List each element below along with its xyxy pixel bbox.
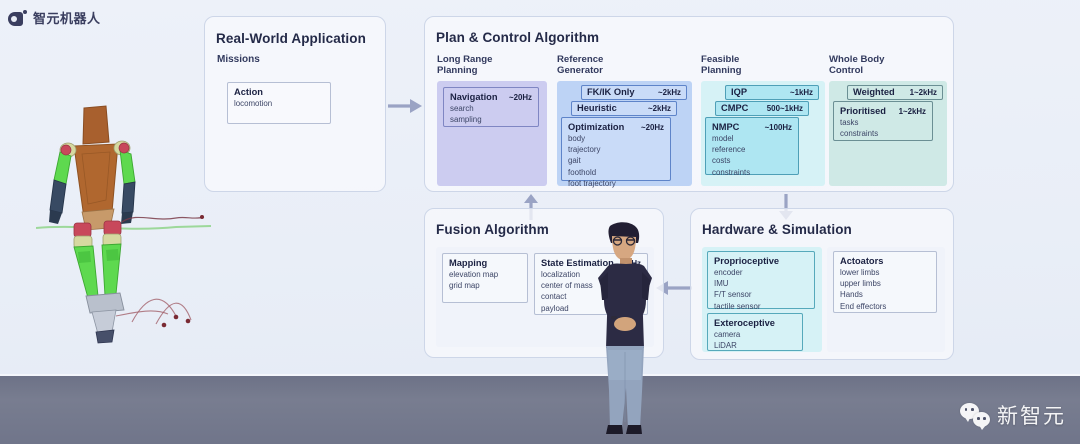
box-heuristic-title: Heuristic	[577, 103, 617, 113]
box-proprioceptive[interactable]: Proprioceptive encoder IMU F/T sensor ta…	[707, 251, 815, 309]
box-mapping-items: elevation map grid map	[449, 269, 521, 291]
box-prioritised-freq: 1~2kHz	[890, 107, 926, 116]
robot-svg	[36, 100, 211, 345]
box-actoators-head: Actoators	[840, 256, 930, 266]
list-item: LiDAR	[714, 340, 796, 351]
panel-title-hardware: Hardware & Simulation	[702, 222, 852, 237]
box-prioritised[interactable]: Prioritised 1~2kHz tasks constraints	[833, 101, 933, 141]
box-actoators-items: lower limbs upper limbs Hands End effect…	[840, 267, 930, 312]
box-mapping-head: Mapping	[449, 258, 521, 268]
box-exteroceptive[interactable]: Exteroceptive camera LiDAR	[707, 313, 803, 351]
list-item: tactile sensor	[714, 301, 808, 312]
box-action-title: Action	[234, 87, 263, 97]
group-whole-body-control: Weighted 1~2kHz Prioritised 1~2kHz tasks…	[829, 81, 947, 186]
list-item: End effectors	[840, 301, 930, 312]
box-optimization[interactable]: Optimization ~20Hz body trajectory gait …	[561, 117, 671, 181]
list-item: reference	[712, 144, 792, 155]
panel-title-plan-control: Plan & Control Algorithm	[436, 30, 599, 45]
list-item: model	[712, 133, 792, 144]
list-item: constraints	[712, 167, 792, 178]
box-exteroceptive-title: Exteroceptive	[714, 318, 775, 328]
column-reference-generator: Reference Generator	[557, 54, 677, 76]
box-proprioceptive-title: Proprioceptive	[714, 256, 779, 266]
brand-logo: 智元机器人	[8, 8, 101, 27]
box-cmpc-freq: 500~1kHz	[758, 104, 803, 113]
list-item: Hands	[840, 289, 930, 300]
list-item: constraints	[840, 128, 926, 139]
box-iqp-title: IQP	[731, 87, 747, 97]
list-item: costs	[712, 155, 792, 166]
stage-wall-floor-edge	[0, 374, 1080, 376]
box-navigation[interactable]: Navigation ~20Hz search sampling	[443, 87, 539, 127]
box-iqp-head: IQP ~1kHz	[731, 87, 813, 97]
col-head-line2: Generator	[557, 65, 677, 76]
box-nmpc-items: model reference costs constraints	[712, 133, 792, 178]
panel-title-fusion: Fusion Algorithm	[436, 222, 549, 237]
list-item: F/T sensor	[714, 289, 808, 300]
box-fk-ik-only-head: FK/IK Only ~2kHz	[587, 87, 681, 97]
col-head-line1: Long Range	[437, 54, 549, 65]
list-item: lower limbs	[840, 267, 930, 278]
wechat-watermark: 新智元	[960, 400, 1066, 430]
column-head-feasible-planning: Feasible Planning	[701, 54, 821, 76]
list-item: camera	[714, 329, 796, 340]
box-navigation-head: Navigation ~20Hz	[450, 92, 532, 102]
col-head-line1: Whole Body	[829, 54, 949, 65]
list-item: gait	[568, 155, 664, 166]
col-head-line2: Control	[829, 65, 949, 76]
box-navigation-items: search sampling	[450, 103, 532, 125]
column-head-reference-generator: Reference Generator	[557, 54, 677, 76]
box-optimization-title: Optimization	[568, 122, 624, 132]
presenter-on-stage	[578, 222, 674, 437]
column-feasible-planning: Feasible Planning	[701, 54, 821, 76]
box-navigation-freq: ~20Hz	[500, 93, 532, 102]
list-item: IMU	[714, 278, 808, 289]
column-head-whole-body-control: Whole Body Control	[829, 54, 949, 76]
real-world-subtitle: Missions	[217, 54, 260, 66]
box-mapping[interactable]: Mapping elevation map grid map	[442, 253, 528, 303]
box-nmpc-head: NMPC ~100Hz	[712, 122, 792, 132]
box-weighted-title: Weighted	[853, 87, 895, 97]
box-heuristic-head: Heuristic ~2kHz	[577, 103, 671, 113]
box-actoators[interactable]: Actoators lower limbs upper limbs Hands …	[833, 251, 937, 313]
box-weighted-head: Weighted 1~2kHz	[853, 87, 937, 97]
box-proprioceptive-items: encoder IMU F/T sensor tactile sensor	[714, 267, 808, 312]
box-nmpc[interactable]: NMPC ~100Hz model reference costs constr…	[705, 117, 799, 175]
col-head-line1: Reference	[557, 54, 677, 65]
box-prioritised-title: Prioritised	[840, 106, 886, 116]
panel-title-real-world: Real-World Application	[216, 31, 366, 46]
list-item: upper limbs	[840, 278, 930, 289]
panel-hardware-simulation: Hardware & Simulation Proprioceptive enc…	[690, 208, 954, 360]
panel-real-world-application: Real-World Application Missions Action l…	[204, 16, 386, 192]
box-fk-ik-only-title: FK/IK Only	[587, 87, 635, 97]
box-iqp[interactable]: IQP ~1kHz	[725, 85, 819, 100]
box-heuristic[interactable]: Heuristic ~2kHz	[571, 101, 677, 116]
column-long-range-planning: Long Range Planning	[437, 54, 549, 76]
box-fk-ik-only-freq: ~2kHz	[649, 88, 681, 97]
watermark-label: 新智元	[997, 400, 1066, 430]
box-action-head: Action	[234, 87, 324, 97]
box-action[interactable]: Action locomotion	[227, 82, 331, 124]
box-exteroceptive-head: Exteroceptive	[714, 318, 796, 328]
box-prioritised-items: tasks constraints	[840, 117, 926, 139]
col-head-line2: Planning	[701, 65, 821, 76]
list-item: trajectory	[568, 144, 664, 155]
box-actoators-title: Actoators	[840, 256, 883, 266]
box-cmpc-head: CMPC 500~1kHz	[721, 103, 803, 113]
col-head-line2: Planning	[437, 65, 549, 76]
box-weighted[interactable]: Weighted 1~2kHz	[847, 85, 943, 100]
box-cmpc-title: CMPC	[721, 103, 748, 113]
stage-floor	[0, 376, 1080, 444]
group-sensors: Proprioceptive encoder IMU F/T sensor ta…	[702, 247, 822, 352]
group-long-range-planning: Navigation ~20Hz search sampling	[437, 81, 547, 186]
group-actuation: Actoators lower limbs upper limbs Hands …	[827, 247, 945, 352]
list-item: elevation map	[449, 269, 521, 280]
list-item: locomotion	[234, 98, 324, 109]
group-feasible-planning: IQP ~1kHz CMPC 500~1kHz NMPC ~100Hz mode…	[701, 81, 825, 186]
wechat-icon	[960, 403, 990, 427]
box-mapping-title: Mapping	[449, 258, 487, 268]
list-item: sampling	[450, 114, 532, 125]
humanoid-robot-visualization	[36, 100, 211, 345]
arrow-realworld-to-plan	[388, 98, 424, 114]
list-item: search	[450, 103, 532, 114]
box-heuristic-freq: ~2kHz	[639, 104, 671, 113]
list-item: grid map	[449, 280, 521, 291]
box-fk-ik-only[interactable]: FK/IK Only ~2kHz	[581, 85, 687, 100]
list-item: encoder	[714, 267, 808, 278]
list-item: tasks	[840, 117, 926, 128]
presenter-svg	[578, 222, 674, 437]
box-nmpc-title: NMPC	[712, 122, 739, 132]
box-prioritised-head: Prioritised 1~2kHz	[840, 106, 926, 116]
box-optimization-freq: ~20Hz	[632, 123, 664, 132]
box-weighted-freq: 1~2kHz	[901, 88, 937, 97]
box-action-items: locomotion	[234, 98, 324, 109]
group-reference-generator: FK/IK Only ~2kHz Heuristic ~2kHz Optimiz…	[557, 81, 692, 186]
box-optimization-head: Optimization ~20Hz	[568, 122, 664, 132]
agibot-mark-icon	[8, 10, 27, 26]
list-item: foot trajectory	[568, 178, 664, 189]
box-optimization-items: body trajectory gait foothold foot traje…	[568, 133, 664, 189]
brand-logo-label: 智元机器人	[33, 8, 101, 27]
box-nmpc-freq: ~100Hz	[756, 123, 792, 132]
column-whole-body-control: Whole Body Control	[829, 54, 949, 76]
box-cmpc[interactable]: CMPC 500~1kHz	[715, 101, 809, 116]
list-item: foothold	[568, 167, 664, 178]
column-head-long-range-planning: Long Range Planning	[437, 54, 549, 76]
box-proprioceptive-head: Proprioceptive	[714, 256, 808, 266]
col-head-line1: Feasible	[701, 54, 821, 65]
box-iqp-freq: ~1kHz	[781, 88, 813, 97]
panel-plan-control-algorithm: Plan & Control Algorithm Long Range Plan…	[424, 16, 954, 192]
list-item: body	[568, 133, 664, 144]
box-exteroceptive-items: camera LiDAR	[714, 329, 796, 351]
box-navigation-title: Navigation	[450, 92, 498, 102]
